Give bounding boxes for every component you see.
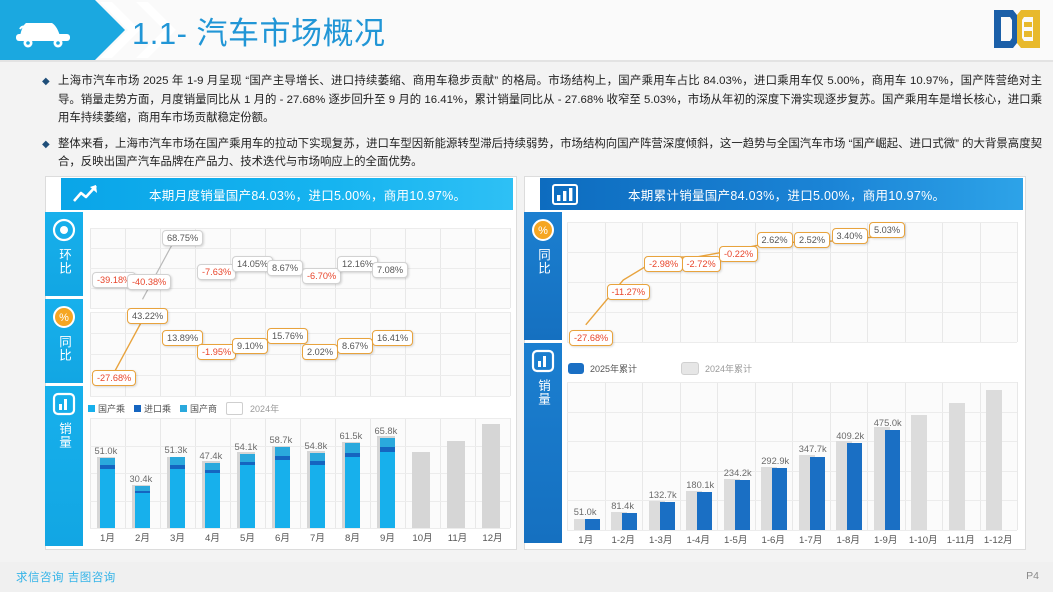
bar-chart-icon (531, 349, 555, 373)
bar-value-label: 51.0k (574, 507, 597, 517)
monthly-sales-xaxis: 1月2月3月4月5月6月7月8月9月10月11月12月 (90, 530, 510, 546)
bar-imported-passenger (345, 453, 360, 457)
tab-cum-sales-label: 销量 (536, 379, 550, 406)
tab-cum-sales[interactable]: 销量 (524, 343, 562, 543)
bar-imported-passenger (240, 462, 255, 466)
legend-swatch (180, 405, 187, 412)
x-axis-label: 11月 (440, 530, 475, 544)
bar-domestic-passenger (380, 452, 395, 528)
data-label-callout: 13.89% (162, 330, 203, 346)
x-axis-label: 1-12月 (980, 532, 1018, 546)
bar-domestic-commercial (240, 454, 255, 462)
bar-prior-year (412, 452, 430, 528)
x-axis-label: 12月 (475, 530, 510, 544)
x-axis-label: 1-3月 (642, 532, 680, 546)
tab-sales-label: 销量 (57, 422, 71, 449)
tab-yoy-label: 同比 (57, 335, 71, 362)
gridline-h (567, 530, 1017, 531)
x-axis-label: 1月 (90, 530, 125, 544)
bar-value-label: 51.0k (95, 446, 118, 456)
trend-line (90, 312, 510, 396)
bar-domestic-passenger (100, 469, 115, 528)
x-axis-label: 1-11月 (942, 532, 980, 546)
gridline-v (1017, 382, 1018, 530)
x-axis-label: 10月 (405, 530, 440, 544)
data-label-callout: -6.70% (302, 268, 341, 284)
chart-cumulative-yoy: -27.68%-11.27%-2.98%-2.72%-0.22%2.62%2.5… (567, 222, 1017, 342)
legend-item: 国产乘 (88, 402, 125, 415)
bar-domestic-commercial (275, 447, 290, 456)
right-panel-banner: 本期累计销量国产84.03%，进口5.00%，商用10.97%。 (540, 178, 1023, 210)
gridline-v (867, 382, 868, 530)
left-tab-column: 环比 % 同比 销量 (45, 212, 83, 549)
bar-prior-year-cumulative (911, 415, 927, 530)
legend-label: 2025年累计 (590, 362, 637, 375)
bar-value-label: 81.4k (611, 501, 634, 511)
bar-value-label: 65.8k (375, 426, 398, 436)
bar-value-label: 180.1k (686, 480, 714, 490)
bar-imported-passenger (275, 456, 290, 460)
bar-value-label: 58.7k (270, 435, 293, 445)
slide-footer: 求信咨询 吉图咨询 P4 (0, 562, 1053, 592)
data-label-callout: 8.67% (267, 260, 303, 276)
bar-domestic-commercial (345, 443, 360, 452)
data-label-callout: -40.38% (127, 274, 171, 290)
bullet-marker-icon: ◆ (42, 135, 58, 172)
legend-label: 2024年 (250, 402, 279, 415)
bar-imported-passenger (135, 491, 150, 493)
svg-text:%: % (538, 225, 548, 237)
legend-swatch (681, 362, 699, 375)
x-axis-label: 3月 (160, 530, 195, 544)
data-label-callout: 43.22% (127, 308, 168, 324)
bar-current-year-cumulative (697, 492, 712, 530)
bar-imported-passenger (170, 465, 185, 469)
right-tab-column: % 同比 销量 (524, 212, 562, 546)
bar-value-label: 292.9k (761, 456, 789, 466)
data-label-callout: 15.76% (267, 328, 308, 344)
gridline-h (567, 382, 1017, 383)
legend-swatch (568, 363, 584, 374)
gridline-v (605, 382, 606, 530)
left-banner-text: 本期月度销量国产84.03%，进口5.00%，商用10.97%。 (109, 185, 466, 204)
bar-domestic-commercial (205, 463, 220, 470)
gridline-h (90, 396, 510, 397)
bar-value-label: 61.5k (340, 431, 363, 441)
data-label-callout: -2.98% (644, 256, 683, 272)
bar-prior-year-cumulative (986, 390, 1002, 530)
x-axis-label: 1-7月 (792, 532, 830, 546)
x-axis-label: 5月 (230, 530, 265, 544)
bullet-list: ◆ 上海市汽车市场 2025 年 1-9 月呈现 “国产主导增长、进口持续萎缩、… (42, 72, 1042, 179)
bar-value-label: 132.7k (649, 490, 677, 500)
bar-domestic-passenger (205, 473, 220, 528)
bar-current-year-cumulative (585, 519, 600, 530)
target-circle-icon (52, 218, 76, 242)
bullet-marker-icon: ◆ (42, 72, 58, 128)
x-axis-label: 1-5月 (717, 532, 755, 546)
data-label-callout: -11.27% (607, 284, 651, 300)
bar-domestic-commercial (135, 486, 150, 491)
gridline-h (90, 528, 510, 529)
bullet-text: 整体来看，上海市汽车市场在国产乘用车的拉动下实现复苏，进口车型因新能源转型滞后持… (58, 135, 1042, 172)
chart-monthly-sales: 51.0k30.4k51.3k47.4k54.1k58.7k54.8k61.5k… (90, 418, 510, 528)
data-label-callout: 68.75% (162, 230, 203, 246)
tab-mom[interactable]: 环比 (45, 212, 83, 296)
db-logo (991, 6, 1043, 52)
page-title: 1.1- 汽车市场概况 (132, 8, 386, 53)
bar-current-year-cumulative (622, 513, 637, 530)
bar-domestic-passenger (170, 469, 185, 528)
bullet-text: 上海市汽车市场 2025 年 1-9 月呈现 “国产主导增长、进口持续萎缩、商用… (58, 72, 1042, 128)
cumulative-sales-xaxis: 1月1-2月1-3月1-4月1-5月1-6月1-7月1-8月1-9月1-10月1… (567, 532, 1017, 548)
right-chart-legend: 2025年累计2024年累计 (568, 362, 786, 375)
bar-value-label: 30.4k (130, 474, 153, 484)
bar-chart-icon (52, 392, 76, 416)
data-label-callout: -27.68% (569, 330, 613, 346)
right-banner-text: 本期累计销量国产84.03%，进口5.00%，商用10.97%。 (588, 185, 945, 204)
bar-domestic-commercial (170, 457, 185, 465)
bar-domestic-passenger (310, 465, 325, 528)
legend-item: 2025年累计 (568, 362, 637, 375)
legend-label: 国产商 (190, 402, 217, 415)
bar-domestic-commercial (380, 438, 395, 448)
bar-current-year-cumulative (885, 430, 900, 530)
legend-item: 国产商 (180, 402, 217, 415)
gridline-h (567, 342, 1017, 343)
slide-header: 1.1- 汽车市场概况 (0, 0, 1053, 62)
x-axis-label: 1-10月 (905, 532, 943, 546)
legend-label: 进口乘 (144, 402, 171, 415)
tab-cum-yoy-label: 同比 (536, 248, 550, 275)
slide-root: 1.1- 汽车市场概况 ◆ 上海市汽车市场 2025 年 1-9 月呈现 “国产… (0, 0, 1053, 592)
data-label-callout: 2.02% (302, 344, 338, 360)
data-label-callout: -2.72% (682, 256, 721, 272)
legend-item: 进口乘 (134, 402, 171, 415)
x-axis-label: 1月 (567, 532, 605, 546)
data-label-callout: 3.40% (832, 228, 868, 244)
gridline-v (755, 382, 756, 530)
legend-item: 2024年累计 (681, 362, 752, 375)
data-label-callout: 16.41% (372, 330, 413, 346)
gridline-v (510, 312, 511, 396)
legend-swatch (226, 402, 243, 415)
footer-brand: 求信咨询 吉图咨询 (16, 569, 116, 585)
bar-value-label: 47.4k (200, 451, 223, 461)
legend-label: 国产乘 (98, 402, 125, 415)
gridline-v (567, 382, 568, 530)
bar-value-label: 409.2k (836, 431, 864, 441)
bar-current-year-cumulative (847, 443, 862, 530)
x-axis-label: 1-6月 (755, 532, 793, 546)
bar-domestic-passenger (275, 460, 290, 528)
bar-imported-passenger (310, 461, 325, 465)
x-axis-label: 1-8月 (830, 532, 868, 546)
header-divider (0, 60, 1053, 62)
bullet-item: ◆ 上海市汽车市场 2025 年 1-9 月呈现 “国产主导增长、进口持续萎缩、… (42, 72, 1042, 128)
bar-prior-year-cumulative (949, 403, 965, 530)
chart-cumulative-sales: 51.0k81.4k132.7k180.1k234.2k292.9k347.7k… (567, 382, 1017, 530)
bar-prior-year (482, 424, 500, 529)
x-axis-label: 1-4月 (680, 532, 718, 546)
data-label-callout: -1.95% (197, 344, 236, 360)
data-label-callout: -7.63% (197, 264, 236, 280)
left-panel-banner: 本期月度销量国产84.03%，进口5.00%，商用10.97%。 (61, 178, 513, 210)
bar-value-label: 51.3k (165, 445, 188, 455)
tab-mom-label: 环比 (57, 248, 71, 275)
bar-current-year-cumulative (810, 457, 825, 531)
x-axis-label: 1-2月 (605, 532, 643, 546)
gridline-h (90, 418, 510, 419)
bar-value-label: 475.0k (874, 418, 902, 428)
left-chart-legend: 国产乘进口乘国产商2024年 (88, 402, 284, 415)
x-axis-label: 4月 (195, 530, 230, 544)
x-axis-label: 8月 (335, 530, 370, 544)
bar-value-label: 54.1k (235, 442, 258, 452)
bar-imported-passenger (380, 447, 395, 452)
gridline-v (510, 228, 511, 308)
bar-current-year-cumulative (660, 502, 675, 530)
gridline-v (792, 382, 793, 530)
data-label-callout: 7.08% (372, 262, 408, 278)
tab-sales[interactable]: 销量 (45, 386, 83, 546)
legend-label: 2024年累计 (705, 362, 752, 375)
gridline-v (830, 382, 831, 530)
bar-imported-passenger (100, 465, 115, 469)
gridline-v (980, 382, 981, 530)
footer-page-number: P4 (1026, 570, 1039, 582)
gridline-v (942, 382, 943, 530)
bullet-item: ◆ 整体来看，上海市汽车市场在国产乘用车的拉动下实现复苏，进口车型因新能源转型滞… (42, 135, 1042, 172)
svg-text:%: % (59, 312, 69, 324)
chart-monthly-yoy: -27.68%43.22%13.89%-1.95%9.10%15.76%2.02… (90, 312, 510, 396)
data-label-callout: -27.68% (92, 370, 136, 386)
x-axis-label: 9月 (370, 530, 405, 544)
percent-badge-icon: % (531, 218, 555, 242)
tab-cum-yoy[interactable]: % 同比 (524, 212, 562, 340)
bar-domestic-commercial (100, 458, 115, 466)
bar-current-year-cumulative (772, 468, 787, 530)
legend-swatch (134, 405, 141, 412)
data-label-callout: 2.52% (794, 232, 830, 248)
bar-chart-icon (550, 182, 580, 206)
data-label-callout: 9.10% (232, 338, 268, 354)
bar-domestic-passenger (135, 493, 150, 528)
x-axis-label: 2月 (125, 530, 160, 544)
data-label-callout: 5.03% (869, 222, 905, 238)
gridline-v (510, 418, 511, 528)
line-chart-icon (71, 182, 101, 206)
data-label-callout: 2.62% (757, 232, 793, 248)
legend-swatch (88, 405, 95, 412)
bar-value-label: 234.2k (724, 468, 752, 478)
bar-current-year-cumulative (735, 480, 750, 530)
gridline-v (680, 382, 681, 530)
bar-prior-year (447, 441, 465, 528)
bar-domestic-commercial (310, 453, 325, 461)
bar-domestic-passenger (345, 457, 360, 528)
gridline-v (642, 382, 643, 530)
x-axis-label: 6月 (265, 530, 300, 544)
bar-imported-passenger (205, 470, 220, 473)
legend-item: 2024年 (226, 402, 279, 415)
bar-value-label: 54.8k (305, 441, 328, 451)
chart-monthly-mom: -39.18%-40.38%68.75%-7.63%14.05%8.67%-6.… (90, 228, 510, 308)
bar-value-label: 347.7k (799, 444, 827, 454)
gridline-v (905, 382, 906, 530)
data-label-callout: 8.67% (337, 338, 373, 354)
tab-yoy[interactable]: % 同比 (45, 299, 83, 383)
gridline-v (717, 382, 718, 530)
x-axis-label: 7月 (300, 530, 335, 544)
bar-domestic-passenger (240, 465, 255, 528)
percent-badge-icon: % (52, 305, 76, 329)
x-axis-label: 1-9月 (867, 532, 905, 546)
gridline-v (1017, 222, 1018, 342)
data-label-callout: -0.22% (719, 246, 758, 262)
